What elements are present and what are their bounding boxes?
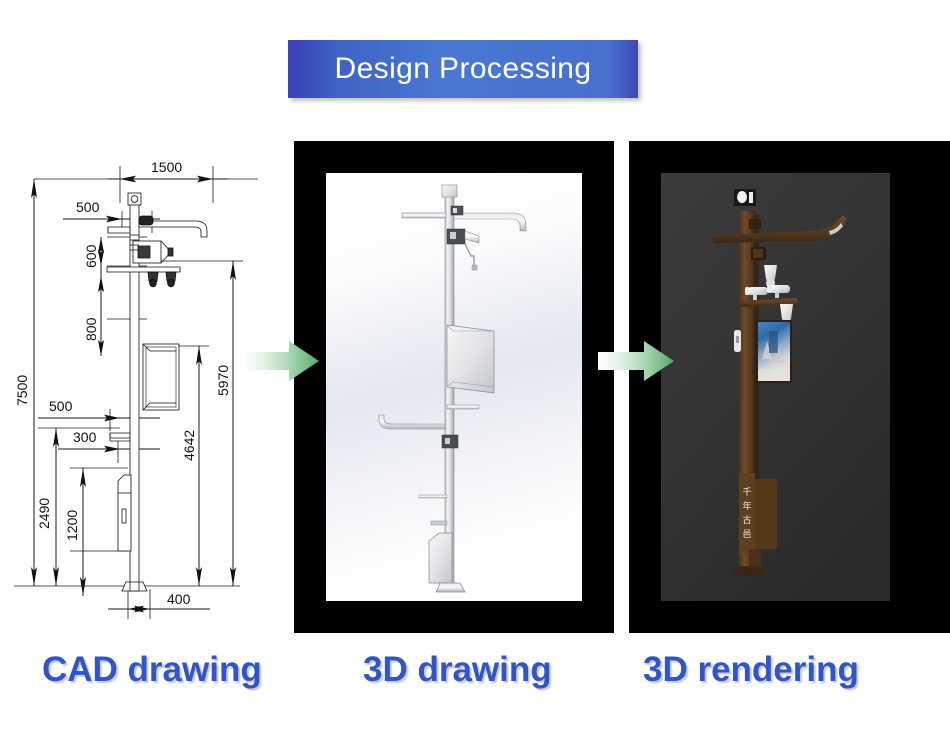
display-box xyxy=(447,325,494,393)
caption-3d-rendering: 3D rendering xyxy=(643,650,859,690)
title-banner: Design Processing xyxy=(288,40,638,98)
caption-3d-drawing: 3D drawing xyxy=(363,650,552,690)
side-sensor xyxy=(734,330,741,352)
cad-dim-1200: 1200 xyxy=(64,510,80,541)
3d-drawing-panel xyxy=(326,173,582,601)
flow-arrow-3d-to-render xyxy=(598,339,674,383)
luminaire-arm xyxy=(454,213,526,231)
cad-dim-7500: 7500 xyxy=(14,375,30,406)
signboard-char-3: 古 xyxy=(742,514,751,526)
cad-dim-5970: 5970 xyxy=(215,365,231,396)
3d-drawing-svg xyxy=(326,173,582,601)
signboard-char-4: 邑 xyxy=(742,529,751,540)
3d-rendering-svg: 千 年 古 邑 xyxy=(661,173,890,601)
page-title: Design Processing xyxy=(335,52,592,86)
cad-dim-600: 600 xyxy=(83,244,99,268)
led-display-screen xyxy=(756,320,792,383)
signboard-char-2: 年 xyxy=(742,500,751,512)
signboard-char-1: 千 xyxy=(742,487,751,498)
cad-dim-4642: 4642 xyxy=(181,430,197,461)
cad-dim-2490: 2490 xyxy=(36,498,52,529)
cad-dim-300: 300 xyxy=(73,429,97,445)
flow-arrow-cad-to-3d xyxy=(243,339,319,383)
cad-dim-500-top: 500 xyxy=(76,199,100,215)
cad-dim-400: 400 xyxy=(167,591,191,607)
cad-dim-1500: 1500 xyxy=(151,159,182,175)
pole-signboard: 千 年 古 邑 xyxy=(739,473,777,555)
cad-dim-500-low: 500 xyxy=(49,398,73,414)
caption-cad-drawing: CAD drawing xyxy=(42,650,262,690)
base-cabinet xyxy=(429,533,452,583)
3d-rendering-panel: 千 年 古 邑 xyxy=(661,173,890,601)
cad-dim-800: 800 xyxy=(83,317,99,341)
lower-light-arm xyxy=(379,415,445,429)
